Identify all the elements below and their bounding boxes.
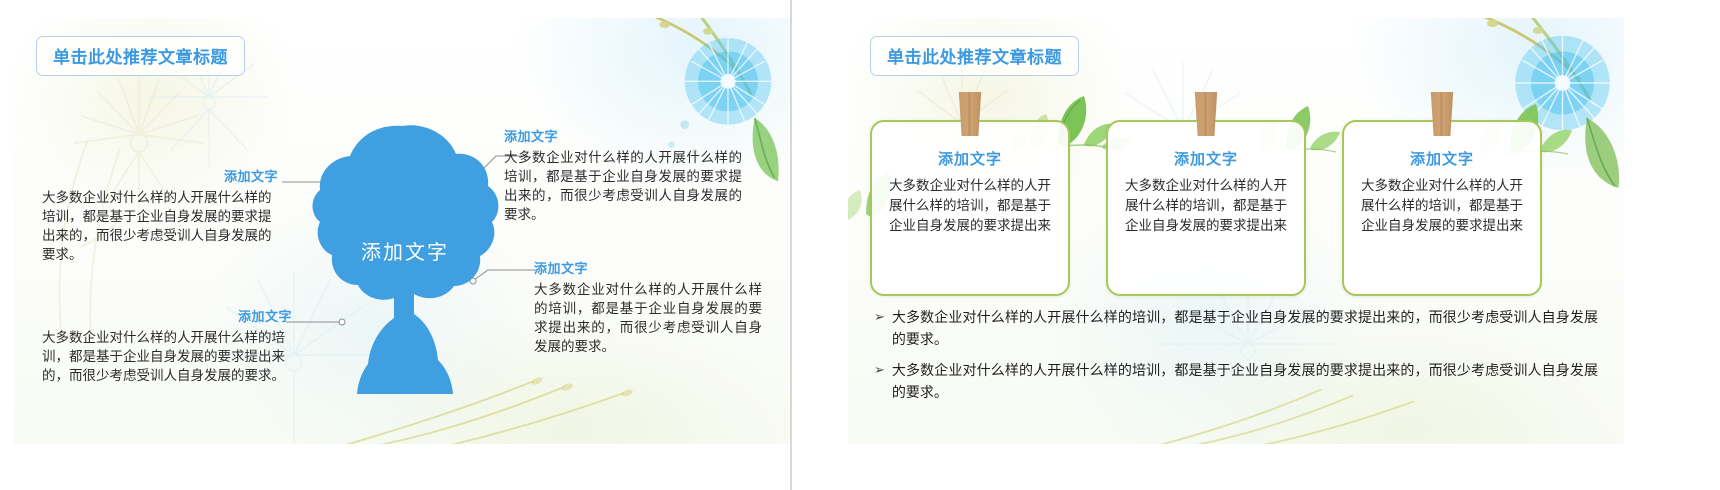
info-card[interactable]: 添加文字 大多数企业对什么样的人开展什么样的培训，都是基于企业自身发展的要求提出… (1342, 120, 1542, 296)
card-heading: 添加文字 (872, 148, 1068, 169)
card-body: 大多数企业对什么样的人开展什么样的培训，都是基于企业自身发展的要求提出来 (1125, 176, 1287, 236)
callout-top-left[interactable]: 添加文字 大多数企业对什么样的人开展什么样的培训，都是基于企业自身发展的要求提出… (42, 166, 278, 264)
wooden-clip-icon (1428, 92, 1456, 136)
callout-heading: 添加文字 (42, 166, 278, 185)
list-item-text: 大多数企业对什么样的人开展什么样的培训，都是基于企业自身发展的要求提出来的，而很… (892, 359, 1598, 403)
arrow-bullet-icon: ➢ (874, 359, 885, 380)
page-title: 单击此处推荐文章标题 (53, 43, 228, 68)
callout-body: 大多数企业对什么样的人开展什么样的培训，都是基于企业自身发展的要求提出来的，而很… (534, 280, 762, 356)
callout-heading: 添加文字 (42, 306, 292, 325)
page-title: 单击此处推荐文章标题 (887, 43, 1062, 68)
card-body: 大多数企业对什么样的人开展什么样的培训，都是基于企业自身发展的要求提出来 (889, 176, 1051, 236)
slide-title-right[interactable]: 单击此处推荐文章标题 (870, 36, 1079, 76)
callout-bottom-left[interactable]: 添加文字 大多数企业对什么样的人开展什么样的培训，都是基于企业自身发展的要求提出… (42, 306, 292, 385)
callout-body: 大多数企业对什么样的人开展什么样的培训，都是基于企业自身发展的要求提出来的，而很… (42, 328, 292, 385)
callout-body: 大多数企业对什么样的人开展什么样的培训，都是基于企业自身发展的要求提出来的，而很… (504, 148, 742, 224)
list-item-text: 大多数企业对什么样的人开展什么样的培训，都是基于企业自身发展的要求提出来的，而很… (892, 306, 1598, 350)
callout-top-right[interactable]: 添加文字 大多数企业对什么样的人开展什么样的培训，都是基于企业自身发展的要求提出… (504, 126, 742, 224)
tree-icon: 添加文字 (310, 122, 500, 402)
info-card[interactable]: 添加文字 大多数企业对什么样的人开展什么样的培训，都是基于企业自身发展的要求提出… (1106, 120, 1306, 296)
info-card[interactable]: 添加文字 大多数企业对什么样的人开展什么样的培训，都是基于企业自身发展的要求提出… (870, 120, 1070, 296)
callout-body: 大多数企业对什么样的人开展什么样的培训，都是基于企业自身发展的要求提出来的，而很… (42, 188, 278, 264)
card-heading: 添加文字 (1108, 148, 1304, 169)
arrow-bullet-icon: ➢ (874, 306, 885, 327)
wooden-clip-icon (1192, 92, 1220, 136)
card-body: 大多数企业对什么样的人开展什么样的培训，都是基于企业自身发展的要求提出来 (1361, 176, 1523, 236)
slide-deck: 单击此处推荐文章标题 (0, 0, 1720, 490)
wooden-clip-icon (956, 92, 984, 136)
callout-bottom-right[interactable]: 添加文字 大多数企业对什么样的人开展什么样的培训，都是基于企业自身发展的要求提出… (534, 258, 762, 356)
list-item[interactable]: ➢ 大多数企业对什么样的人开展什么样的培训，都是基于企业自身发展的要求提出来的，… (874, 306, 1598, 350)
slide-divider (790, 0, 792, 490)
callout-heading: 添加文字 (504, 126, 742, 145)
bullet-list: ➢ 大多数企业对什么样的人开展什么样的培训，都是基于企业自身发展的要求提出来的，… (874, 306, 1598, 412)
slide-title-left[interactable]: 单击此处推荐文章标题 (36, 36, 245, 76)
callout-heading: 添加文字 (534, 258, 762, 277)
list-item[interactable]: ➢ 大多数企业对什么样的人开展什么样的培训，都是基于企业自身发展的要求提出来的，… (874, 359, 1598, 403)
tree-center-label: 添加文字 (310, 236, 500, 265)
slide-cards: 单击此处推荐文章标题 添加文字 大多数企业对什么样的人开展什么样的培训，都是基于… (848, 18, 1624, 444)
card-heading: 添加文字 (1344, 148, 1540, 169)
slide-tree: 单击此处推荐文章标题 (14, 18, 790, 444)
